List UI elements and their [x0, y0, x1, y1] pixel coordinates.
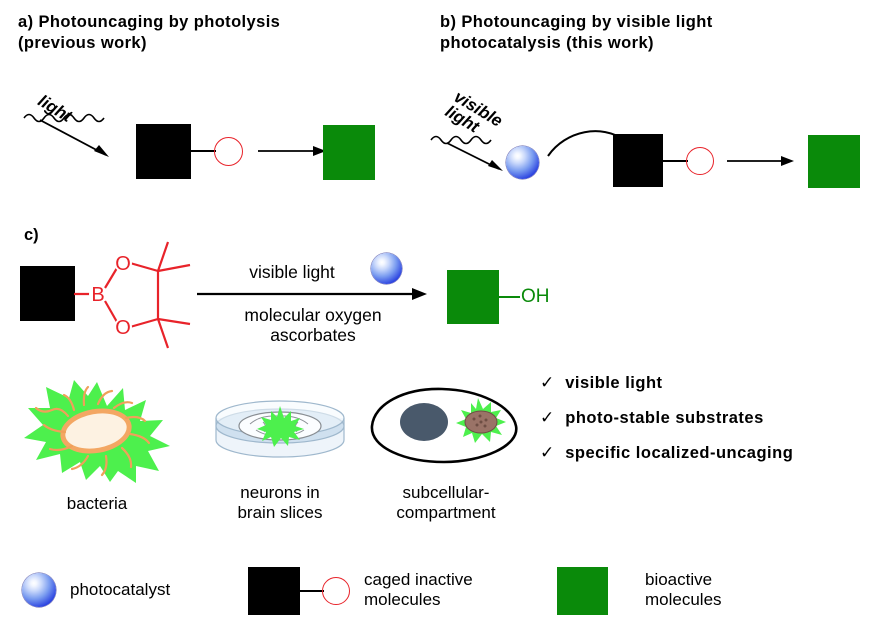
- pinacol-boronate-ester-structure: B O O: [72, 238, 207, 354]
- panel-c-label: c): [24, 226, 39, 245]
- panel-c-reaction-arrow: [197, 286, 429, 302]
- legend-black-square: [248, 567, 300, 615]
- panel-a-black-square: [136, 124, 191, 179]
- panel-c-conditions-above: visible light: [211, 262, 373, 282]
- panel-c-black-square: [20, 266, 75, 321]
- neurons-in-brain-slices-caption: neurons in brain slices: [206, 483, 354, 523]
- bacteria-caption: bacteria: [22, 494, 172, 514]
- bacteria-illustration: [22, 378, 172, 483]
- panel-b-green-square: [808, 135, 860, 188]
- panel-b-photocatalyst-sphere: [506, 146, 539, 179]
- panel-b-reaction-arrow: [727, 151, 797, 173]
- panel-b-bond: [662, 160, 688, 162]
- subcellular-compartment-illustration: [362, 382, 532, 472]
- panel-a-red-circle: [214, 137, 243, 166]
- check-icon: ✓: [540, 374, 554, 392]
- checklist-item-label: specific localized-uncaging: [565, 444, 793, 462]
- neurons-in-brain-slices-illustration: [208, 398, 352, 470]
- oxygen-bottom-label: O: [115, 317, 131, 339]
- checklist-item-label: visible light: [565, 374, 662, 392]
- checklist-item: ✓ visible light: [540, 374, 876, 392]
- feature-checklist: ✓ visible light ✓ photo-stable substrate…: [540, 374, 876, 479]
- panel-c-oh-label: OH: [521, 287, 550, 306]
- legend-photocatalyst-label: photocatalyst: [70, 580, 170, 600]
- panel-c-conditions-below: molecular oxygen ascorbates: [197, 305, 429, 345]
- legend-caged-label: caged inactive molecules: [364, 570, 473, 610]
- panel-b-black-square: [613, 134, 663, 187]
- checklist-item-label: photo-stable substrates: [565, 409, 764, 427]
- boron-label: B: [91, 284, 104, 306]
- check-icon: ✓: [540, 444, 554, 462]
- panel-b-red-circle: [686, 147, 714, 175]
- panel-a-bond: [190, 150, 216, 152]
- panel-c-photocatalyst-sphere: [371, 253, 402, 284]
- panel-a-green-square: [323, 125, 375, 180]
- legend-red-circle: [322, 577, 350, 605]
- panel-b-heading: b) Photouncaging by visible light photoc…: [440, 12, 870, 54]
- legend-bond: [299, 590, 324, 592]
- check-icon: ✓: [540, 409, 554, 427]
- panel-a-reaction-arrow: [258, 140, 330, 162]
- panel-a-heading: a) Photouncaging by photolysis (previous…: [18, 12, 438, 54]
- legend-green-square: [557, 567, 608, 615]
- oxygen-top-label: O: [115, 253, 131, 275]
- checklist-item: ✓ specific localized-uncaging: [540, 444, 876, 462]
- checklist-item: ✓ photo-stable substrates: [540, 409, 876, 427]
- subcellular-compartment-caption: subcellular- compartment: [356, 483, 536, 523]
- legend-bioactive-label: bioactive molecules: [645, 570, 722, 610]
- figure-root: a) Photouncaging by photolysis (previous…: [0, 0, 882, 622]
- panel-c-oh-bond: [498, 296, 520, 298]
- legend-photocatalyst-sphere: [22, 573, 56, 607]
- panel-c-green-square: [447, 270, 499, 324]
